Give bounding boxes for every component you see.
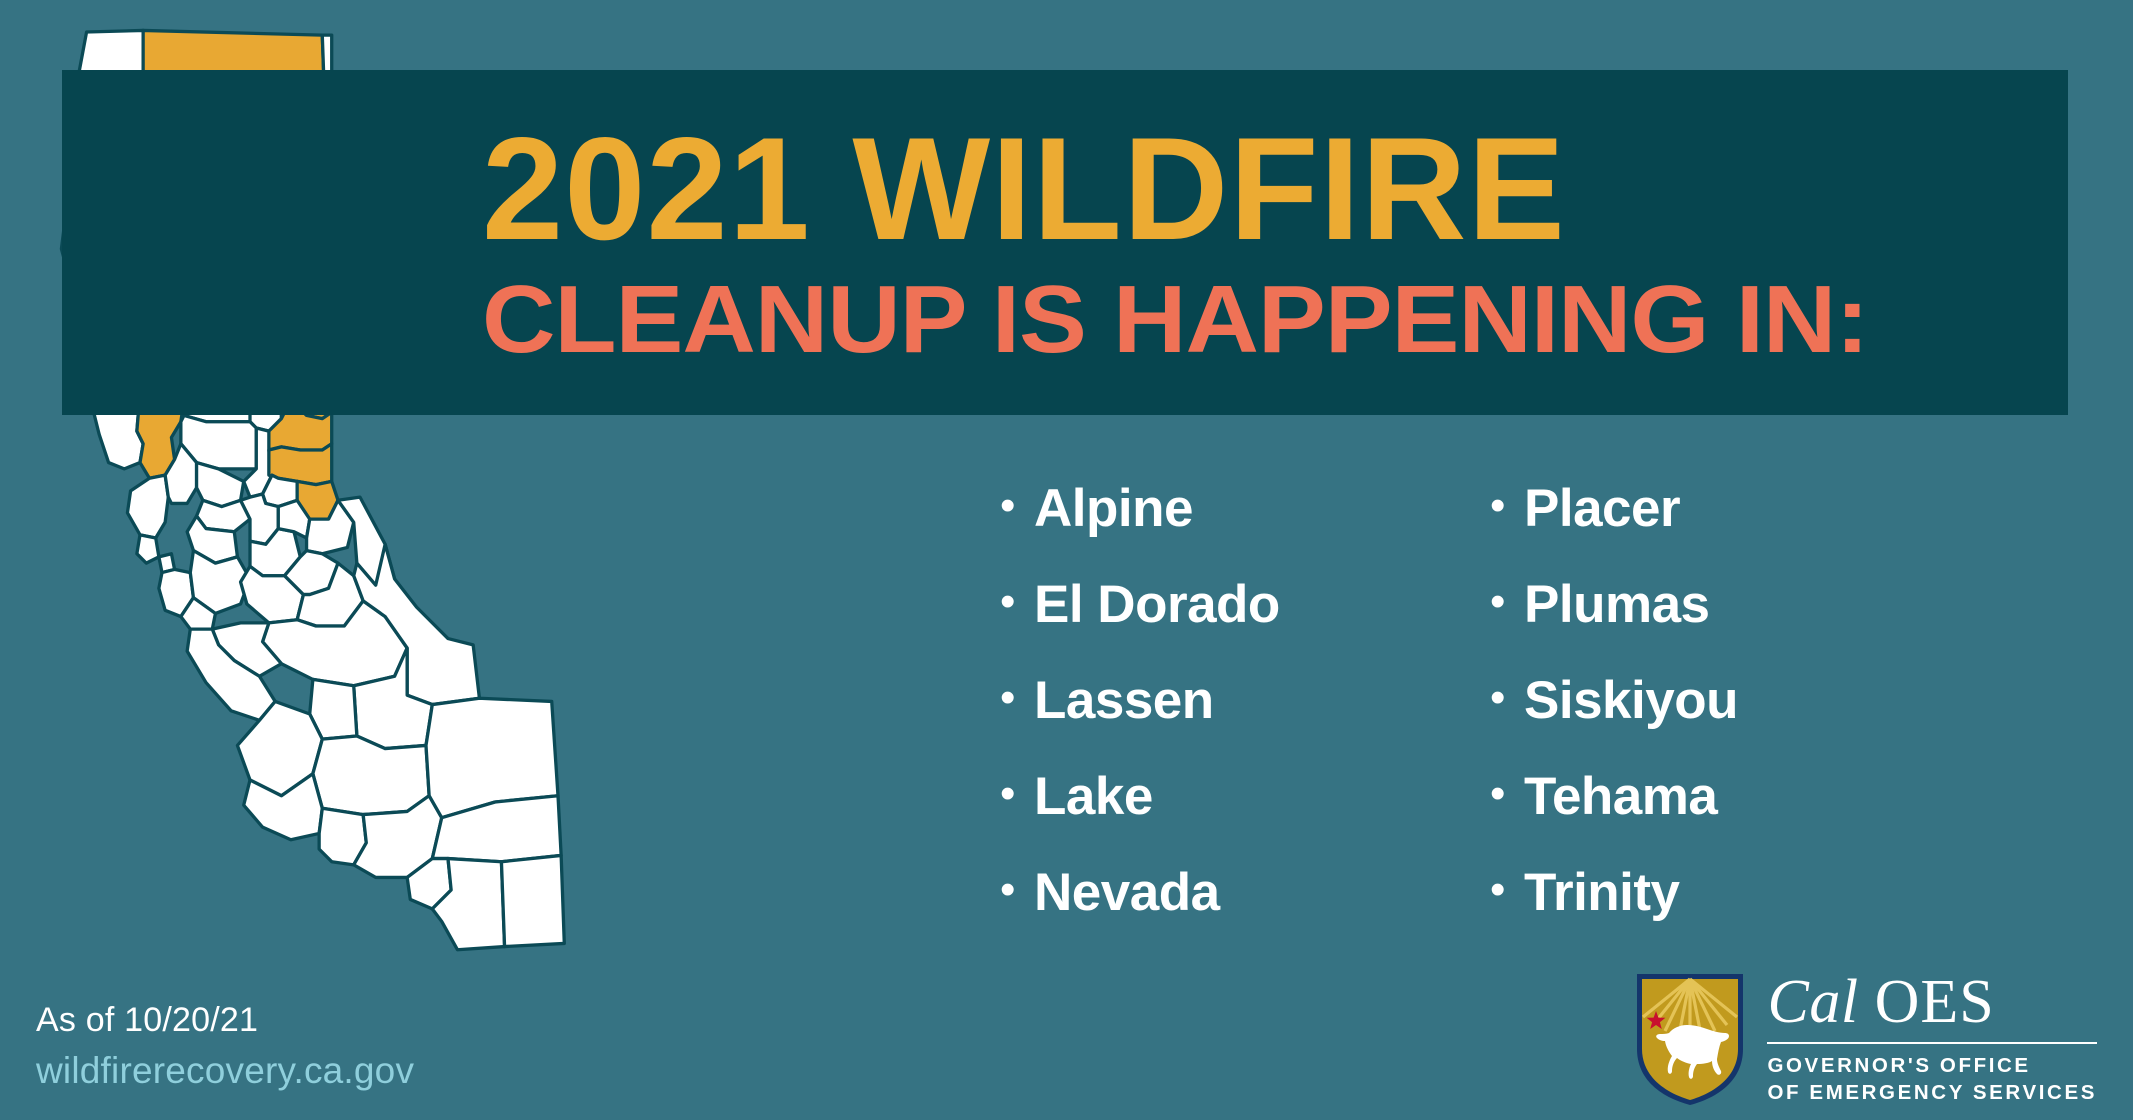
county-label: Tehama (1524, 766, 1717, 827)
list-item: Tehama (1490, 766, 1920, 862)
page-subtitle: CLEANUP IS HAPPENING IN: (482, 272, 2133, 368)
title-block: 2021 WILDFIRE CLEANUP IS HAPPENING IN: (470, 70, 2070, 415)
county-label: Placer (1524, 478, 1680, 539)
bullet-icon (1490, 772, 1524, 816)
county-kern (313, 736, 429, 815)
list-item: Lake (1000, 766, 1430, 862)
cal-oes-wordmark-group: Cal OES GOVERNOR'S OFFICE OF EMERGENCY S… (1767, 971, 2097, 1105)
list-item: Alpine (1000, 478, 1430, 574)
list-item: Nevada (1000, 862, 1430, 958)
bullet-icon (1000, 580, 1034, 624)
list-item: Lassen (1000, 670, 1430, 766)
page-title: 2021 WILDFIRE (482, 117, 2070, 260)
bullet-icon (1490, 868, 1524, 912)
bullet-icon (1000, 772, 1034, 816)
as-of-date: As of 10/20/21 (36, 1001, 414, 1040)
cal-word: Cal (1767, 968, 1858, 1036)
website-url[interactable]: wildfirerecovery.ca.gov (36, 1050, 414, 1092)
county-marin (137, 535, 159, 563)
oes-word: OES (1875, 968, 1995, 1036)
county-label: Siskiyou (1524, 670, 1738, 731)
bullet-icon (1490, 580, 1524, 624)
cal-oes-logo: Cal OES GOVERNOR'S OFFICE OF EMERGENCY S… (1635, 971, 2097, 1106)
shield-svg (1635, 971, 1745, 1106)
county-column-2: Placer Plumas Siskiyou Tehama Trinity (1490, 478, 1920, 958)
list-item: Siskiyou (1490, 670, 1920, 766)
county-label: Lake (1034, 766, 1153, 827)
county-lists: Alpine El Dorado Lassen Lake Nevada (1000, 478, 1920, 958)
list-item: El Dorado (1000, 574, 1430, 670)
bullet-icon (1490, 484, 1524, 528)
county-label: Alpine (1034, 478, 1193, 539)
county-label: Plumas (1524, 574, 1710, 635)
logo-tagline-line2: OF EMERGENCY SERVICES (1767, 1080, 2097, 1106)
list-item: Trinity (1490, 862, 1920, 958)
logo-divider (1767, 1042, 2097, 1044)
county-imperial (501, 855, 564, 946)
bullet-icon (1000, 484, 1034, 528)
bullet-icon (1490, 676, 1524, 720)
county-label: Lassen (1034, 670, 1214, 731)
footer-left: As of 10/20/21 wildfirerecovery.ca.gov (36, 1001, 414, 1092)
county-label: El Dorado (1034, 574, 1280, 635)
bullet-icon (1000, 868, 1034, 912)
county-label: Nevada (1034, 862, 1220, 923)
infographic-canvas: 2021 WILDFIRE CLEANUP IS HAPPENING IN: A… (0, 0, 2133, 1120)
county-sonoma (127, 475, 168, 538)
bullet-icon (1000, 676, 1034, 720)
cal-oes-shield-icon (1635, 971, 1745, 1106)
county-label: Trinity (1524, 862, 1680, 923)
cal-oes-wordmark: Cal OES (1767, 971, 2097, 1033)
logo-tagline-line1: GOVERNOR'S OFFICE (1767, 1053, 2097, 1079)
list-item: Plumas (1490, 574, 1920, 670)
county-column-1: Alpine El Dorado Lassen Lake Nevada (1000, 478, 1430, 958)
list-item: Placer (1490, 478, 1920, 574)
